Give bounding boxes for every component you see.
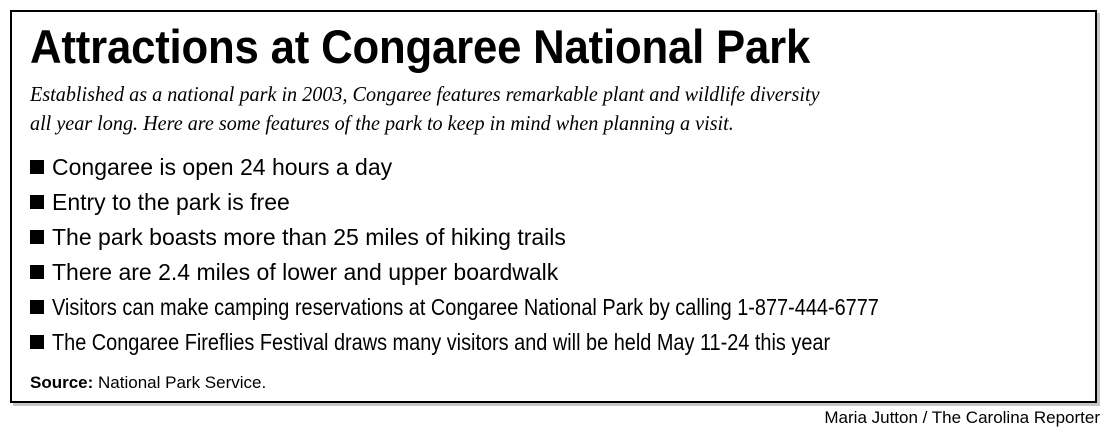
facts-list: Congaree is open 24 hours a day Entry to… [30,152,1081,362]
list-item: Visitors can make camping reservations a… [30,292,1081,327]
black-square-bullet-icon [30,195,44,209]
deck-text: Established as a national park in 2003, … [30,80,1076,138]
list-item: The park boasts more than 25 miles of hi… [30,222,1081,257]
black-square-bullet-icon [30,335,44,349]
black-square-bullet-icon [30,300,44,314]
bordered-card: Attractions at Congaree National Park Es… [10,10,1097,403]
black-square-bullet-icon [30,265,44,279]
list-item: There are 2.4 miles of lower and upper b… [30,257,1081,292]
black-square-bullet-icon [30,230,44,244]
source-label: Source: [30,373,93,392]
list-item-label: Entry to the park is free [52,187,290,217]
page-title: Attractions at Congaree National Park [30,20,1007,74]
infographic-graphic: Attractions at Congaree National Park Es… [0,0,1108,433]
byline-credit: Maria Jutton / The Carolina Reporter [824,408,1100,428]
list-item-label: The Congaree Fireflies Festival draws ma… [52,327,830,357]
deck-line-1: Established as a national park in 2003, … [30,80,1076,109]
card-content: Attractions at Congaree National Park Es… [12,12,1095,401]
list-item: The Congaree Fireflies Festival draws ma… [30,327,1081,362]
list-item-label: There are 2.4 miles of lower and upper b… [52,257,558,287]
list-item: Congaree is open 24 hours a day [30,152,1081,187]
list-item-label: The park boasts more than 25 miles of hi… [52,222,566,252]
list-item-label: Visitors can make camping reservations a… [52,292,879,322]
source-line: Source: National Park Service. [30,373,266,393]
deck-line-2: all year long. Here are some features of… [30,109,1076,138]
list-item-label: Congaree is open 24 hours a day [52,152,392,182]
black-square-bullet-icon [30,160,44,174]
list-item: Entry to the park is free [30,187,1081,222]
source-value: National Park Service. [98,373,266,392]
